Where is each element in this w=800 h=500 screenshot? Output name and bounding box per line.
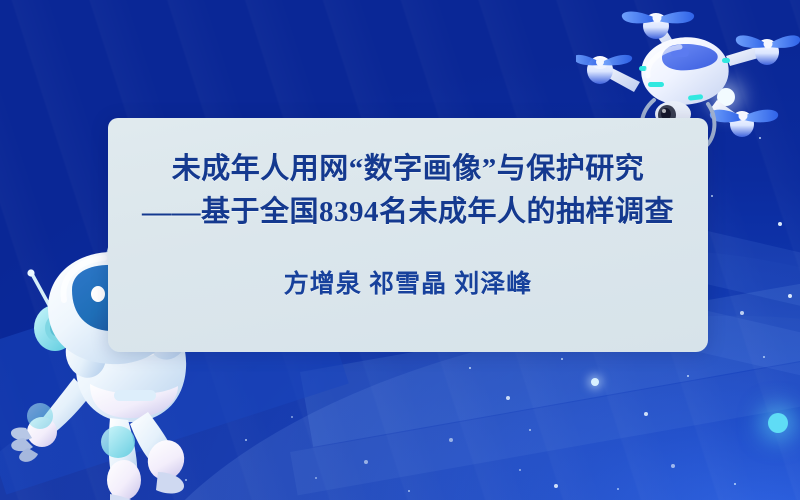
title-card-content: 未成年人用网“数字画像”与保护研究 ——基于全国8394名未成年人的抽样调查 方… [108, 118, 708, 352]
authors-line: 方增泉 祁雪晶 刘泽峰 [134, 264, 682, 300]
poster-canvas: 未成年人用网“数字画像”与保护研究 ——基于全国8394名未成年人的抽样调查 方… [0, 0, 800, 500]
title-card: 未成年人用网“数字画像”与保护研究 ——基于全国8394名未成年人的抽样调查 方… [108, 118, 708, 352]
page-title-line-2: ——基于全国8394名未成年人的抽样调查 [134, 191, 682, 234]
page-title-line-1: 未成年人用网“数字画像”与保护研究 [134, 148, 682, 191]
